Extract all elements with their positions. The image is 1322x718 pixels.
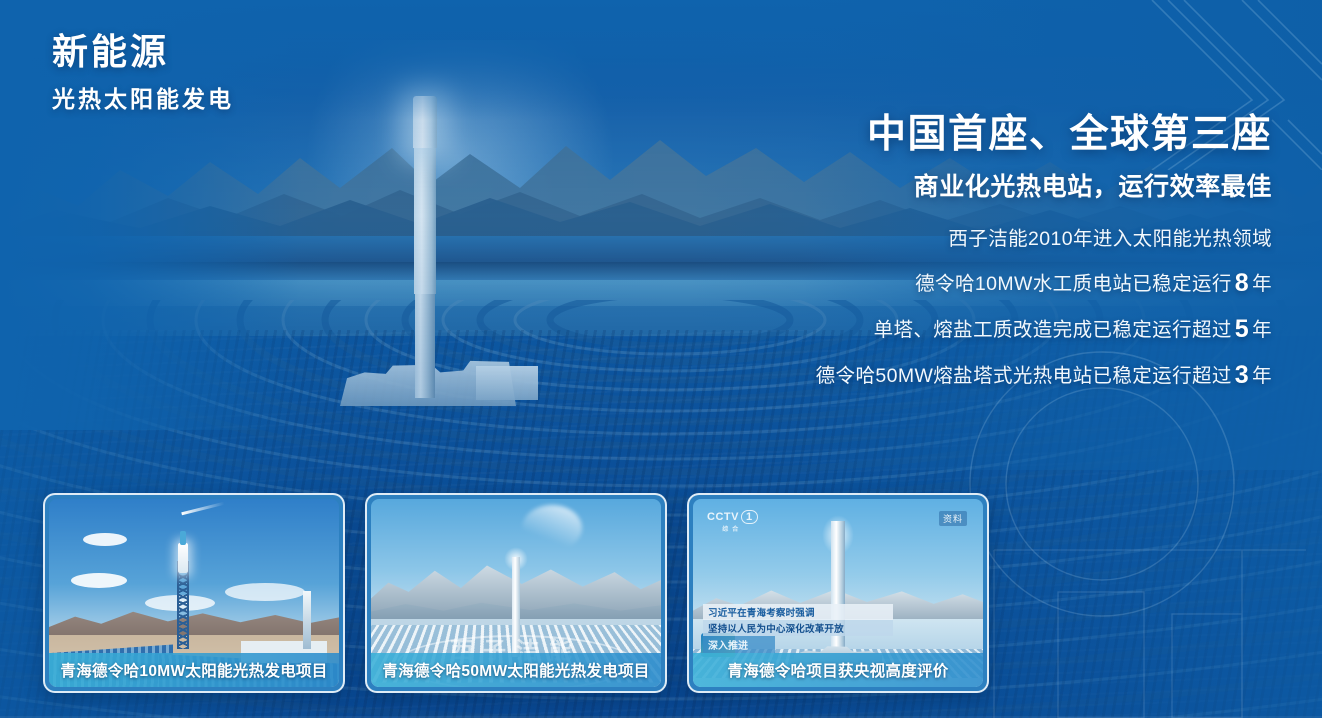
cloud (71, 573, 127, 588)
card-1-tower (177, 527, 189, 649)
copy-block: 中国首座、全球第三座 商业化光热电站，运行效率最佳 西子洁能2010年进入太阳能… (672, 112, 1272, 388)
thumbnail-row: 青海德令哈10MW太阳能光热发电项目 西子洁能 青海德令哈50MW太阳能光热发电… (43, 493, 989, 693)
headline: 中国首座、全球第三座 (672, 112, 1272, 158)
card-1-tower-second (303, 591, 311, 649)
bullet-unit: 年 (1252, 319, 1272, 341)
card-3-caption: 青海德令哈项目获央视高度评价 (693, 653, 983, 687)
page-title: 新能源 (52, 32, 234, 72)
bullet-number: 8 (1232, 269, 1252, 297)
subheadline: 商业化光热电站，运行效率最佳 (672, 167, 1272, 203)
card-1-caption: 青海德令哈10MW太阳能光热发电项目 (49, 653, 339, 687)
bullet-text: 西子洁能2010年进入太阳能光热领域 (948, 228, 1272, 250)
bullet-item: 西子洁能2010年进入太阳能光热领域 (672, 230, 1272, 250)
card-1-image: 青海德令哈10MW太阳能光热发电项目 (49, 499, 339, 687)
tower-tip (180, 531, 186, 545)
receiver (178, 543, 188, 573)
bullet-item: 德令哈10MW水工质电站已稳定运行8年 (672, 271, 1272, 296)
footage-badge: 资料 (939, 511, 967, 526)
bullet-unit: 年 (1252, 273, 1272, 295)
bullet-item: 德令哈50MW熔盐塔式光热电站已稳定运行超过3年 (672, 363, 1272, 388)
cctv-number: 1 (741, 510, 758, 524)
bullet-text: 德令哈50MW熔盐塔式光热电站已稳定运行超过 (816, 365, 1232, 387)
bullet-list: 西子洁能2010年进入太阳能光热领域 德令哈10MW水工质电站已稳定运行8年 单… (672, 230, 1272, 388)
bullet-number: 5 (1232, 315, 1252, 343)
chyron-line-3: 深入推进 (703, 636, 775, 653)
bullet-text: 德令哈10MW水工质电站已稳定运行 (915, 273, 1232, 295)
lattice (177, 561, 189, 649)
bullet-number: 3 (1232, 361, 1252, 389)
cloud (225, 583, 305, 601)
cloud (83, 533, 127, 546)
bullet-text: 单塔、熔盐工质改造完成已稳定运行超过 (874, 319, 1232, 341)
card-2-light-trail (522, 505, 582, 551)
card-2-caption: 青海德令哈50MW太阳能光热发电项目 (371, 653, 661, 687)
cctv-text: CCTV (707, 511, 739, 523)
chyron-line-1: 习近平在青海考察时强调 (703, 604, 893, 620)
thumbnail-card-3[interactable]: CCTV1 综合 资料 习近平在青海考察时强调 坚持以人民为中心深化改革开放 深… (687, 493, 989, 693)
cctv-channel-name: 综合 (707, 524, 758, 533)
bullet-unit: 年 (1252, 365, 1272, 387)
card-3-image: CCTV1 综合 资料 习近平在青海考察时强调 坚持以人民为中心深化改革开放 深… (693, 499, 983, 687)
page-subtitle: 光热太阳能发电 (52, 80, 234, 114)
bullet-item: 单塔、熔盐工质改造完成已稳定运行超过5年 (672, 317, 1272, 342)
slide-root: 新能源 光热太阳能发电 中国首座、全球第三座 商业化光热电站，运行效率最佳 西子… (0, 0, 1322, 718)
box-decoration-icon (976, 488, 1306, 718)
card-2-image: 西子洁能 青海德令哈50MW太阳能光热发电项目 (371, 499, 661, 687)
thumbnail-card-1[interactable]: 青海德令哈10MW太阳能光热发电项目 (43, 493, 345, 693)
header-block: 新能源 光热太阳能发电 (52, 32, 234, 114)
news-chyron: 习近平在青海考察时强调 坚持以人民为中心深化改革开放 深入推进 (703, 604, 893, 653)
cctv-logo-icon: CCTV1 综合 (707, 511, 758, 533)
chyron-line-2: 坚持以人民为中心深化改革开放 (703, 620, 893, 636)
thumbnail-card-2[interactable]: 西子洁能 青海德令哈50MW太阳能光热发电项目 (365, 493, 667, 693)
